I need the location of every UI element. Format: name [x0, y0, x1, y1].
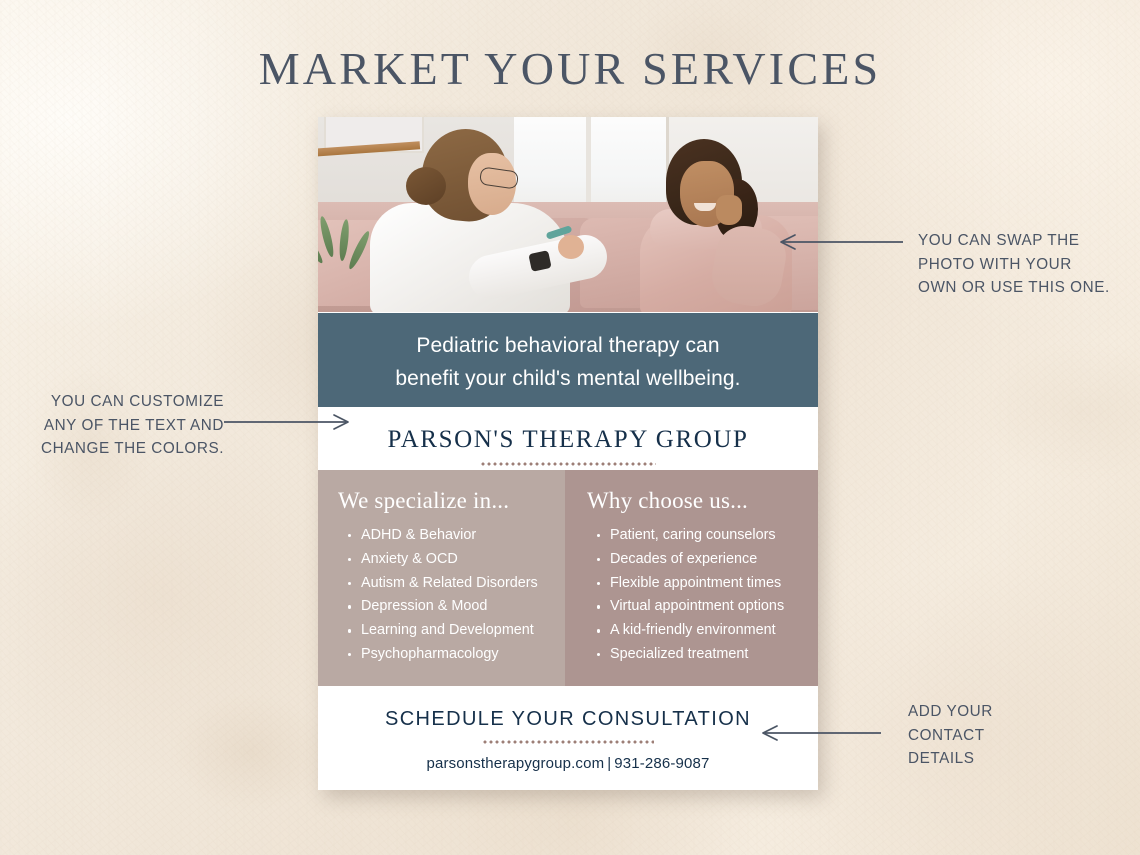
callout-swap-photo: YOU CAN SWAP THE PHOTO WITH YOUR OWN OR … [918, 229, 1128, 300]
website-text[interactable]: parsonstherapygroup.com [427, 755, 605, 772]
callout-customize-text: YOU CAN CUSTOMIZE ANY OF THE TEXT AND CH… [32, 390, 224, 461]
photo-therapist-hair-bun [406, 167, 446, 205]
list-item: Decades of experience [597, 548, 806, 572]
callout-line: PHOTO WITH YOUR [918, 253, 1128, 277]
callout-line: CONTACT [908, 724, 1068, 748]
headline-line-1: Pediatric behavioral therapy can [336, 329, 800, 362]
callout-line: ANY OF THE TEXT AND [32, 414, 224, 438]
list-item: Depression & Mood [348, 595, 553, 619]
phone-text[interactable]: 931-286-9087 [614, 755, 709, 772]
headline-line-2: benefit your child's mental wellbeing. [336, 362, 800, 395]
list-item: ADHD & Behavior [348, 524, 553, 548]
photo-client-hand [716, 195, 742, 225]
specialties-list: ADHD & Behavior Anxiety & OCD Autism & R… [338, 524, 553, 667]
arrow-right-icon [222, 412, 354, 432]
arrow-left-icon [757, 723, 883, 743]
list-item: Learning and Development [348, 619, 553, 643]
contact-details: parsonstherapygroup.com|931-286-9087 [318, 755, 818, 772]
callout-line: YOU CAN SWAP THE [918, 229, 1128, 253]
list-item: Specialized treatment [597, 643, 806, 667]
list-item: Psychopharmacology [348, 643, 553, 667]
page-title: MARKET YOUR SERVICES [0, 42, 1140, 95]
callout-add-contact: ADD YOUR CONTACT DETAILS [908, 700, 1068, 771]
list-item: Virtual appointment options [597, 595, 806, 619]
flyer-canvas[interactable]: Pediatric behavioral therapy can benefit… [318, 117, 818, 790]
callout-line: DETAILS [908, 747, 1068, 771]
callout-line: ADD YOUR [908, 700, 1068, 724]
list-item: Autism & Related Disorders [348, 572, 553, 596]
call-to-action-title: SCHEDULE YOUR CONSULTATION [318, 708, 818, 731]
flyer-headline-band[interactable]: Pediatric behavioral therapy can benefit… [318, 313, 818, 413]
flyer-columns: We specialize in... ADHD & Behavior Anxi… [318, 470, 818, 686]
photo-therapist-hand [558, 235, 584, 259]
why-choose-us-title: Why choose us... [587, 488, 806, 514]
brand-dotted-divider [480, 462, 656, 466]
contact-separator: | [607, 755, 611, 772]
list-item: Patient, caring counselors [597, 524, 806, 548]
specialties-title: We specialize in... [338, 488, 553, 514]
list-item: Anxiety & OCD [348, 548, 553, 572]
callout-line: YOU CAN CUSTOMIZE [32, 390, 224, 414]
footer-dotted-divider [482, 740, 654, 744]
why-choose-us-column[interactable]: Why choose us... Patient, caring counsel… [565, 470, 818, 686]
arrow-left-icon [775, 232, 905, 252]
callout-line: CHANGE THE COLORS. [32, 437, 224, 461]
flyer-footer[interactable]: SCHEDULE YOUR CONSULTATION parsonstherap… [318, 686, 818, 790]
specialties-column[interactable]: We specialize in... ADHD & Behavior Anxi… [318, 470, 565, 686]
callout-line: OWN OR USE THIS ONE. [918, 276, 1128, 300]
business-name: PARSON'S THERAPY GROUP [318, 426, 818, 454]
why-choose-us-list: Patient, caring counselors Decades of ex… [587, 524, 806, 667]
flyer-photo[interactable] [318, 117, 818, 312]
photo-plant [318, 201, 362, 271]
list-item: Flexible appointment times [597, 572, 806, 596]
list-item: A kid-friendly environment [597, 619, 806, 643]
